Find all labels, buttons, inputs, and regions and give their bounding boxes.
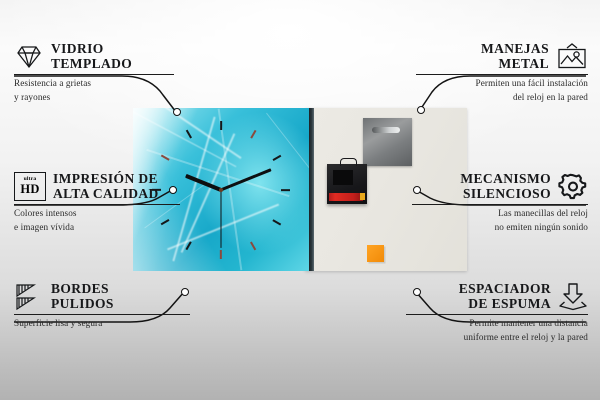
foam-spacer-pad <box>367 245 384 262</box>
clock-tick <box>281 189 290 191</box>
feature-title-line1: Bordes <box>51 282 114 297</box>
feature-underline <box>406 314 588 315</box>
feature-polished-edges: Bordes Pulidos Superficie lisa y segura <box>14 282 190 329</box>
feature-underline <box>412 204 588 205</box>
clock-center-cap <box>219 188 223 192</box>
feature-subtitle-line2: del reloj en la pared <box>416 92 588 103</box>
feature-subtitle-line1: Las manecillas del reloj <box>412 208 588 219</box>
feature-subtitle-line2: no emiten ningún sonido <box>412 222 588 233</box>
feature-underline <box>416 74 588 75</box>
arrow-down-pad-icon <box>558 282 588 311</box>
feature-title-line2: Alta calidad <box>53 187 159 202</box>
feature-underline <box>14 314 190 315</box>
feature-title-line2: Metal <box>481 57 549 72</box>
feature-title-line1: Vidrio <box>51 42 132 57</box>
feature-silent-mechanism: Mecanismo Silencioso Las manecillas del … <box>412 172 588 234</box>
mechanism-tab <box>340 158 357 166</box>
feature-underline <box>14 204 180 205</box>
feature-hd-print: ultra HD Impresión de Alta calidad Color… <box>14 172 180 234</box>
feature-subtitle-line1: Colores intensos <box>14 208 180 219</box>
diamond-icon <box>14 44 44 70</box>
battery <box>329 193 363 201</box>
feature-foam-spacer: Espaciador de espuma Permite mantener un… <box>406 282 588 344</box>
feature-subtitle-line2: y rayones <box>14 92 174 103</box>
callout-dot-metal-handles <box>417 106 425 114</box>
picture-frame-hanger-icon <box>556 43 588 71</box>
mechanism-body <box>333 170 353 185</box>
feature-subtitle-line1: Permite mantener una distancia <box>406 318 588 329</box>
feature-metal-handles: Manejas Metal Permiten una fácil instala… <box>416 42 588 104</box>
ultra-hd-icon: ultra HD <box>14 172 46 201</box>
feature-subtitle-line2: e imagen vívida <box>14 222 180 233</box>
feature-title-line2: Pulidos <box>51 297 114 312</box>
polished-edge-icon <box>14 283 44 311</box>
ultra-hd-icon-large-text: HD <box>20 183 39 196</box>
feature-title-line2: de espuma <box>459 297 551 312</box>
callout-dot-tempered-glass <box>173 108 181 116</box>
glass-edge <box>309 108 314 271</box>
metal-hanger-plate <box>363 118 412 166</box>
infographic-canvas: Vidrio Templado Resistencia a grietas y … <box>0 0 600 400</box>
feature-subtitle-line1: Resistencia a grietas <box>14 78 174 89</box>
gear-icon <box>558 172 588 201</box>
feature-subtitle-line2: uniforme entre el reloj y la pared <box>406 332 588 343</box>
feature-subtitle-line1: Permiten una fácil instalación <box>416 78 588 89</box>
feature-title-line1: Espaciador <box>459 282 551 297</box>
clock-mechanism <box>327 164 367 204</box>
clock-second-hand <box>221 190 222 248</box>
feature-title-line1: Mecanismo <box>460 172 551 187</box>
clock-tick <box>220 121 222 130</box>
feature-tempered-glass: Vidrio Templado Resistencia a grietas y … <box>14 42 174 104</box>
feature-title-line2: Templado <box>51 57 132 72</box>
hanger-slot <box>372 127 400 133</box>
clock-tick <box>220 250 222 259</box>
feature-title-line1: Impresión de <box>53 172 159 187</box>
battery-terminal <box>360 193 365 200</box>
feature-title-line1: Manejas <box>481 42 549 57</box>
feature-underline <box>14 74 174 75</box>
feature-title-line2: Silencioso <box>460 187 551 202</box>
feature-subtitle-line1: Superficie lisa y segura <box>14 318 190 329</box>
